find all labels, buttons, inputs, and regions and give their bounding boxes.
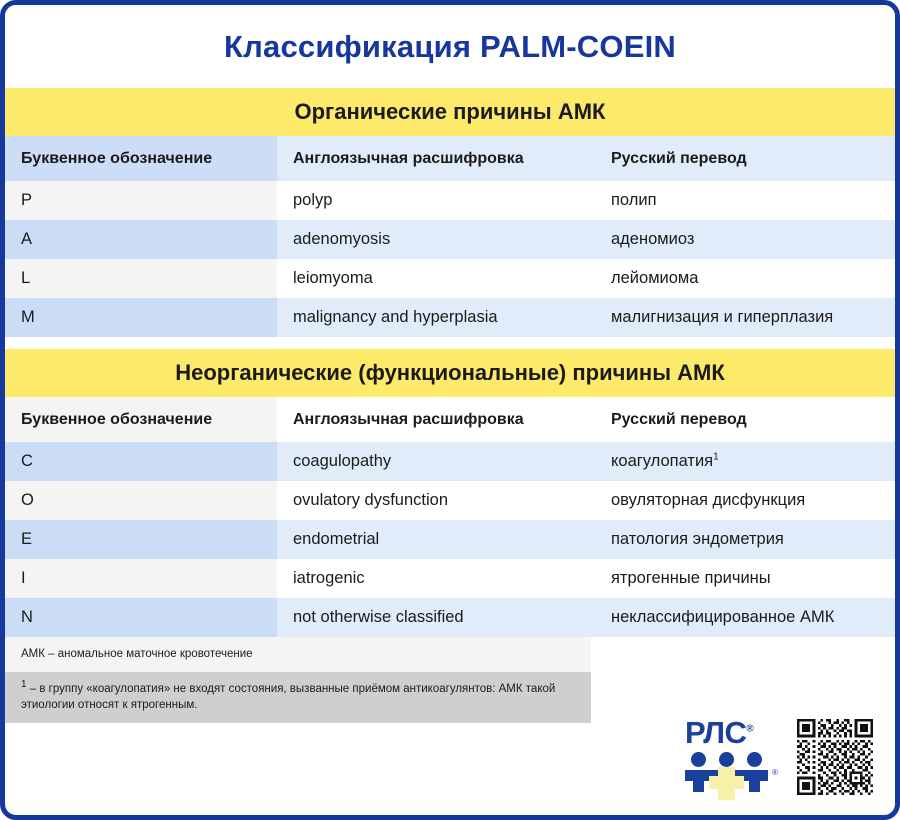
- table-row: L leiomyoma лейомиома: [5, 259, 895, 298]
- infographic-card: Классификация PALM-COEIN Органические пр…: [0, 0, 900, 820]
- page-title-bar: Классификация PALM-COEIN: [5, 5, 895, 88]
- rls-head-icon: [691, 752, 706, 767]
- cell-russian: малигнизация и гиперплазия: [595, 298, 895, 337]
- rls-wordmark: РЛС®: [685, 717, 753, 748]
- qr-code-icon[interactable]: [797, 719, 873, 795]
- footnote-marker: 1: [713, 452, 719, 463]
- section-header-organic-label: Органические причины АМК: [295, 101, 606, 123]
- cell-russian: неклассифицированное АМК: [595, 598, 895, 637]
- cell-english: iatrogenic: [277, 559, 595, 598]
- cell-letter: O: [5, 481, 277, 520]
- table-nonorganic-causes: Буквенное обозначение Англоязычная расши…: [5, 397, 895, 637]
- cell-letter: L: [5, 259, 277, 298]
- section-header-nonorganic-label: Неорганические (функциональные) причины …: [175, 362, 725, 384]
- table-header-row: Буквенное обозначение Англоязычная расши…: [5, 136, 895, 181]
- footnote-body: – в группу «коагулопатия» не входят сост…: [21, 683, 555, 712]
- cell-english: ovulatory dysfunction: [277, 481, 595, 520]
- cell-russian: патология эндометрия: [595, 520, 895, 559]
- cell-russian: ятрогенные причины: [595, 559, 895, 598]
- cell-english: adenomyosis: [277, 220, 595, 259]
- table-row: N not otherwise classified неклассифицир…: [5, 598, 895, 637]
- column-header-russian: Русский перевод: [595, 136, 895, 181]
- cell-letter: I: [5, 559, 277, 598]
- cell-english: endometrial: [277, 520, 595, 559]
- table-row: M malignancy and hyperplasia малигнизаци…: [5, 298, 895, 337]
- rls-body-shape: [693, 770, 704, 792]
- column-header-english: Англоязычная расшифровка: [277, 136, 595, 181]
- cell-letter: C: [5, 442, 277, 481]
- cell-english: coagulopathy: [277, 442, 595, 481]
- cell-english: leiomyoma: [277, 259, 595, 298]
- table-row: C coagulopathy коагулопатия1: [5, 442, 895, 481]
- footnote-abbreviation: АМК – аномальное маточное кровотечение: [5, 637, 591, 672]
- cell-russian: коагулопатия1: [595, 442, 895, 481]
- medical-cross-icon: [709, 776, 744, 789]
- section-spacer: [5, 337, 895, 349]
- registered-icon: ®: [746, 724, 753, 735]
- cell-letter: M: [5, 298, 277, 337]
- brand-block: РЛС® ®: [685, 717, 873, 795]
- table-row: A adenomyosis аденомиоз: [5, 220, 895, 259]
- cell-letter: P: [5, 181, 277, 220]
- cell-letter: A: [5, 220, 277, 259]
- cell-russian: лейомиома: [595, 259, 895, 298]
- page-title: Классификация PALM-COEIN: [224, 31, 676, 62]
- table-row: E endometrial патология эндометрия: [5, 520, 895, 559]
- column-header-russian: Русский перевод: [595, 397, 895, 442]
- rls-head-icon: [719, 752, 734, 767]
- section-header-organic: Органические причины АМК: [5, 88, 895, 136]
- cell-russian: аденомиоз: [595, 220, 895, 259]
- footnotes: АМК – аномальное маточное кровотечение 1…: [5, 637, 895, 723]
- rls-head-icon: [747, 752, 762, 767]
- table-row: I iatrogenic ятрогенные причины: [5, 559, 895, 598]
- table-row: O ovulatory dysfunction овуляторная дисф…: [5, 481, 895, 520]
- cell-russian: овуляторная дисфункция: [595, 481, 895, 520]
- column-header-letter: Буквенное обозначение: [5, 397, 277, 442]
- column-header-letter: Буквенное обозначение: [5, 136, 277, 181]
- rls-wordmark-text: РЛС: [685, 715, 746, 750]
- cell-english: polyp: [277, 181, 595, 220]
- rls-body-shape: [749, 770, 760, 792]
- footnote-coagulopathy: 1 – в группу «коагулопатия» не входят со…: [5, 672, 591, 723]
- cell-english: malignancy and hyperplasia: [277, 298, 595, 337]
- cell-letter: N: [5, 598, 277, 637]
- table-row: P polyp полип: [5, 181, 895, 220]
- cell-russian-text: коагулопатия: [611, 452, 713, 470]
- rls-people-icon: ®: [685, 752, 777, 792]
- cell-russian: полип: [595, 181, 895, 220]
- registered-small-icon: ®: [772, 768, 778, 777]
- cell-letter: E: [5, 520, 277, 559]
- cell-english: not otherwise classified: [277, 598, 595, 637]
- table-header-row: Буквенное обозначение Англоязычная расши…: [5, 397, 895, 442]
- section-header-nonorganic: Неорганические (функциональные) причины …: [5, 349, 895, 397]
- table-organic-causes: Буквенное обозначение Англоязычная расши…: [5, 136, 895, 337]
- column-header-english: Англоязычная расшифровка: [277, 397, 595, 442]
- rls-logo: РЛС® ®: [685, 717, 783, 795]
